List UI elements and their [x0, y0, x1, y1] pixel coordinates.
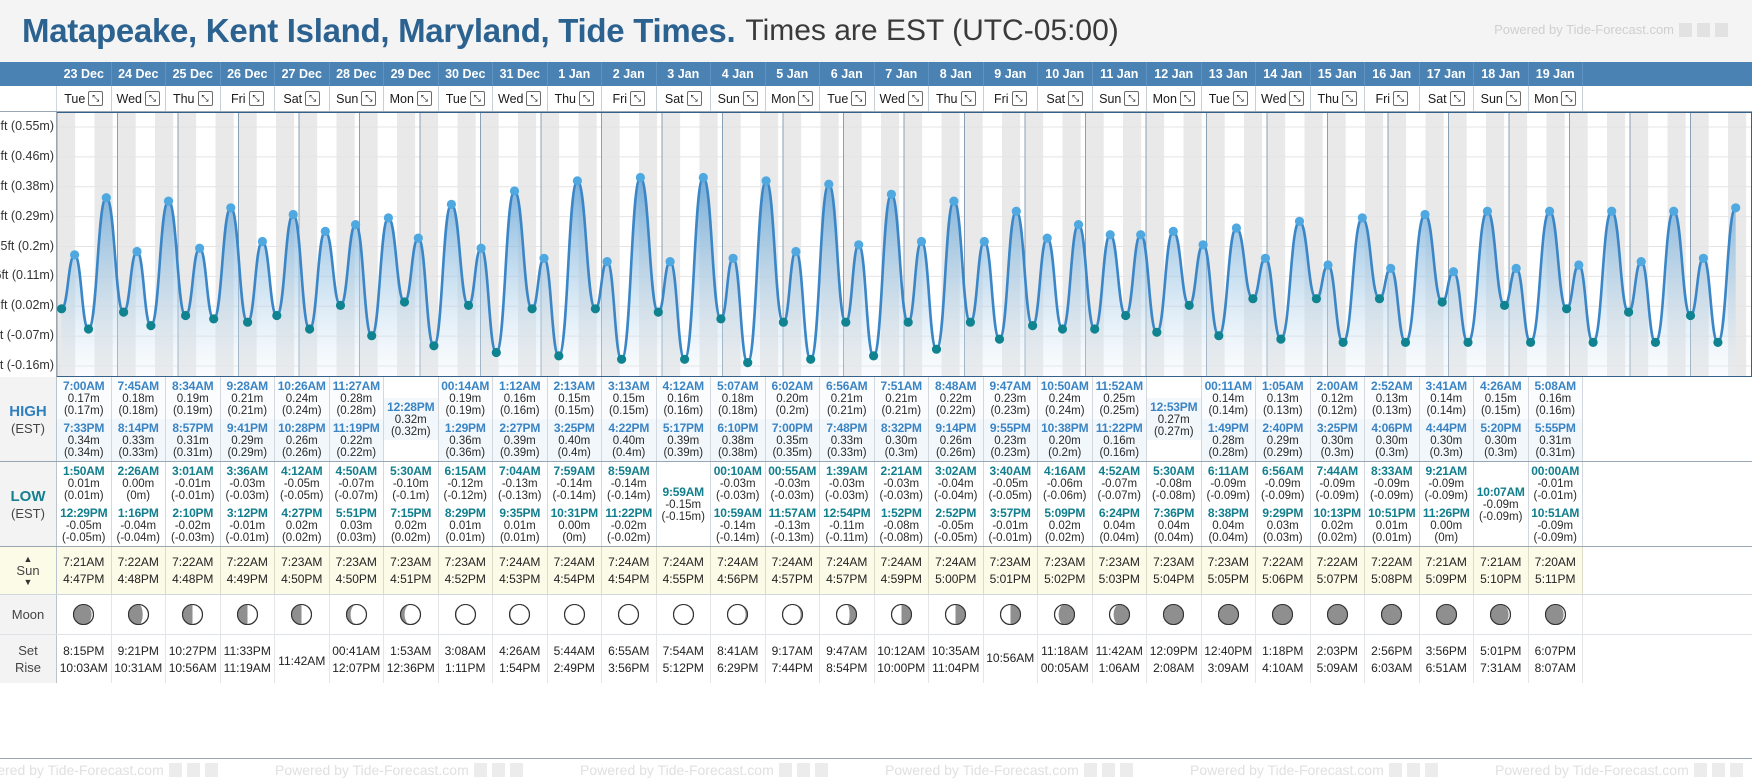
- weekday-header-cells: Tue⤡Wed⤡Thu⤡Fri⤡Sat⤡Sun⤡Mon⤡Tue⤡Wed⤡Thu⤡…: [57, 86, 1752, 111]
- tide-event[interactable]: 5:17PM0.39m(0.39m): [657, 419, 711, 461]
- tide-event[interactable]: 12:28PM0.32m(0.32m): [384, 398, 438, 440]
- weekday-header-cell[interactable]: Mon⤡: [1529, 86, 1584, 111]
- watermark-box-2: [1407, 763, 1420, 777]
- low-tide-point[interactable]: [1562, 304, 1571, 313]
- weekday-header-cell[interactable]: Wed⤡: [1256, 86, 1311, 111]
- weekday-header-cell[interactable]: Sun⤡: [330, 86, 385, 111]
- tide-event[interactable]: 7:48PM0.33m(0.33m): [820, 419, 874, 461]
- tide-event[interactable]: 3:13AM0.15m(0.15m): [602, 377, 656, 419]
- y-axis-tick-label: 0.36ft (0.11m): [0, 268, 54, 282]
- high-tide-point[interactable]: [1637, 257, 1646, 266]
- high-tide-point[interactable]: [384, 213, 393, 222]
- weekday-header-cell[interactable]: Wed⤡: [112, 86, 167, 111]
- tide-event[interactable]: 9:21AM-0.09m(-0.09m): [1420, 462, 1474, 504]
- low-tide-point[interactable]: [1375, 294, 1384, 303]
- tide-event[interactable]: 00:14AM0.19m(0.19m): [439, 377, 493, 419]
- tide-event[interactable]: 3:36AM-0.03m(-0.03m): [221, 462, 275, 504]
- tide-event[interactable]: 6:11AM-0.09m(-0.09m): [1202, 462, 1256, 504]
- tide-event-height: -0.09m: [1428, 478, 1464, 490]
- tide-event[interactable]: 9:55PM0.23m(0.23m): [984, 419, 1038, 461]
- tide-event[interactable]: 10:51PM0.01m(0.01m): [1365, 504, 1419, 546]
- high-tide-point[interactable]: [226, 203, 235, 212]
- tide-event[interactable]: 9:35PM0.01m(0.01m): [493, 504, 547, 546]
- low-tide-point[interactable]: [84, 324, 93, 333]
- weekday-header-cell[interactable]: Wed⤡: [875, 86, 930, 111]
- low-tide-point[interactable]: [654, 308, 663, 317]
- tide-event[interactable]: 10:07AM-0.09m(-0.09m): [1474, 483, 1528, 525]
- low-tide-point[interactable]: [1589, 338, 1598, 347]
- low-tide-point[interactable]: [1438, 297, 1447, 306]
- tide-event[interactable]: 4:16AM-0.06m(-0.06m): [1038, 462, 1092, 504]
- tide-event[interactable]: 5:08AM0.16m(0.16m): [1529, 377, 1583, 419]
- low-tide-point[interactable]: [1090, 324, 1099, 333]
- low-tide-point[interactable]: [1152, 328, 1161, 337]
- tide-event[interactable]: 12:53PM0.27m(0.27m): [1147, 398, 1201, 440]
- expand-icon[interactable]: ⤡: [470, 91, 485, 106]
- low-tide-point[interactable]: [119, 308, 128, 317]
- tide-event[interactable]: 2:52AM0.13m(0.13m): [1365, 377, 1419, 419]
- tide-event[interactable]: 8:38PM0.04m(0.04m): [1202, 504, 1256, 546]
- high-tide-point[interactable]: [1449, 267, 1458, 276]
- expand-icon[interactable]: ⤡: [1233, 91, 1248, 106]
- tide-event[interactable]: 7:45AM0.18m(0.18m): [112, 377, 166, 419]
- high-tide-point[interactable]: [1669, 207, 1678, 216]
- expand-icon[interactable]: ⤡: [1342, 91, 1357, 106]
- tide-event[interactable]: 12:54PM-0.11m(-0.11m): [820, 504, 874, 546]
- tide-event[interactable]: 8:48AM0.22m(0.22m): [929, 377, 983, 419]
- low-tide-point[interactable]: [146, 321, 155, 330]
- low-tide-point[interactable]: [554, 351, 563, 360]
- low-tide-point[interactable]: [1312, 294, 1321, 303]
- tide-event[interactable]: 9:14PM0.26m(0.26m): [929, 419, 983, 461]
- low-tide-point[interactable]: [1651, 338, 1660, 347]
- low-tide-point[interactable]: [617, 355, 626, 364]
- tide-event[interactable]: 1:39AM-0.03m(-0.03m): [820, 462, 874, 504]
- low-tide-point[interactable]: [209, 314, 218, 323]
- expand-icon[interactable]: ⤡: [687, 91, 702, 106]
- sunrise-time: 7:24AM: [881, 555, 922, 569]
- tide-event[interactable]: 5:55PM0.31m(0.31m): [1529, 419, 1583, 461]
- tide-event[interactable]: 4:44PM0.30m(0.3m): [1420, 419, 1474, 461]
- expand-icon[interactable]: ⤡: [908, 91, 923, 106]
- expand-icon[interactable]: ⤡: [1561, 91, 1576, 106]
- high-tide-point[interactable]: [321, 227, 330, 236]
- tide-event-height-alt: (0.21m): [227, 405, 267, 417]
- tide-event[interactable]: 3:01AM-0.01m(-0.01m): [166, 462, 220, 504]
- tide-event[interactable]: 2:26AM0.00m(0m): [112, 462, 166, 504]
- high-tide-point[interactable]: [1545, 207, 1554, 216]
- chart-plot-area[interactable]: [57, 112, 1752, 377]
- weekday-header-cell[interactable]: Thu⤡: [929, 86, 984, 111]
- expand-icon[interactable]: ⤡: [1450, 91, 1465, 106]
- high-tide-point[interactable]: [477, 244, 486, 253]
- high-tide-point[interactable]: [539, 254, 548, 263]
- watermark-box-2: [187, 763, 200, 777]
- tide-event[interactable]: 2:10PM-0.02m(-0.03m): [166, 504, 220, 546]
- tide-event[interactable]: 1:50AM0.01m(0.01m): [57, 462, 111, 504]
- tide-event[interactable]: 4:22PM0.40m(0.4m): [602, 419, 656, 461]
- high-tide-point[interactable]: [1699, 254, 1708, 263]
- weekday-header-cell[interactable]: Wed⤡: [493, 86, 548, 111]
- low-tide-point[interactable]: [779, 318, 788, 327]
- tide-event[interactable]: 1:16PM-0.04m(-0.04m): [112, 504, 166, 546]
- tide-event[interactable]: 10:50AM0.24m(0.24m): [1038, 377, 1092, 419]
- high-tide-point[interactable]: [1420, 210, 1429, 219]
- tide-event[interactable]: 7:00PM0.35m(0.35m): [766, 419, 820, 461]
- weekday-header-cell[interactable]: Thu⤡: [166, 86, 221, 111]
- low-tide-point[interactable]: [429, 341, 438, 350]
- tide-event[interactable]: 3:12PM-0.01m(-0.01m): [221, 504, 275, 546]
- tide-event[interactable]: 1:29PM0.36m(0.36m): [439, 419, 493, 461]
- high-tide-point[interactable]: [699, 173, 708, 182]
- tide-event[interactable]: 00:55AM-0.03m(-0.03m): [766, 462, 820, 504]
- tide-event[interactable]: 11:27AM0.28m(0.28m): [330, 377, 384, 419]
- tide-event[interactable]: 4:50AM-0.07m(-0.07m): [330, 462, 384, 504]
- high-tide-point[interactable]: [132, 247, 141, 256]
- tide-event[interactable]: 10:26AM0.24m(0.24m): [275, 377, 329, 419]
- expand-icon[interactable]: ⤡: [630, 91, 645, 106]
- high-tide-point[interactable]: [1074, 220, 1083, 229]
- tide-event[interactable]: 8:57PM0.31m(0.31m): [166, 419, 220, 461]
- expand-icon[interactable]: ⤡: [1393, 91, 1408, 106]
- low-tide-cell: 1:39AM-0.03m(-0.03m)12:54PM-0.11m(-0.11m…: [820, 462, 875, 546]
- sun-cell: 7:22AM4:48PM: [166, 547, 221, 594]
- low-tide-point[interactable]: [1121, 311, 1130, 320]
- tide-event[interactable]: 2:52PM-0.05m(-0.05m): [929, 504, 983, 546]
- high-tide-point[interactable]: [1012, 207, 1021, 216]
- weekday-header-cell[interactable]: Sat⤡: [275, 86, 330, 111]
- expand-icon[interactable]: ⤡: [1506, 91, 1521, 106]
- low-tide-point[interactable]: [367, 331, 376, 340]
- tide-event[interactable]: 6:56AM-0.09m(-0.09m): [1256, 462, 1310, 504]
- low-tide-point[interactable]: [1713, 338, 1722, 347]
- tide-event-height: 0.35m: [776, 435, 808, 447]
- tide-event[interactable]: 8:59AM-0.14m(-0.14m): [602, 462, 656, 504]
- expand-icon[interactable]: ⤡: [417, 91, 432, 106]
- weekday-header-cell[interactable]: Tue⤡: [57, 86, 112, 111]
- weekday-header-cell[interactable]: Sat⤡: [657, 86, 712, 111]
- high-tide-point[interactable]: [791, 247, 800, 256]
- expand-icon[interactable]: ⤡: [579, 91, 594, 106]
- expand-icon[interactable]: ⤡: [1012, 91, 1027, 106]
- moonset-time: 11:33PM: [224, 644, 271, 658]
- tide-event[interactable]: 8:14PM0.33m(0.33m): [112, 419, 166, 461]
- tide-event[interactable]: 10:31PM0.00m(0m): [548, 504, 602, 546]
- expand-icon[interactable]: ⤡: [249, 91, 264, 106]
- tide-event[interactable]: 11:22PM-0.02m(-0.02m): [602, 504, 656, 546]
- low-tide-point[interactable]: [272, 311, 281, 320]
- weekday-header-cell[interactable]: Thu⤡: [548, 86, 603, 111]
- tide-event[interactable]: 1:52PM-0.08m(-0.08m): [875, 504, 929, 546]
- tide-event[interactable]: 6:10PM0.38m(0.38m): [711, 419, 765, 461]
- low-tide-point[interactable]: [57, 304, 66, 313]
- high-tide-point[interactable]: [1232, 223, 1241, 232]
- high-tide-point[interactable]: [887, 190, 896, 199]
- low-tide-point[interactable]: [1058, 324, 1067, 333]
- tide-event-time: 5:07AM: [717, 379, 758, 393]
- expand-icon[interactable]: ⤡: [798, 91, 813, 106]
- expand-icon[interactable]: ⤡: [961, 91, 976, 106]
- weekday-header-cell[interactable]: Fri⤡: [221, 86, 276, 111]
- tide-event[interactable]: 11:52AM0.25m(0.25m): [1093, 377, 1147, 419]
- high-tide-point[interactable]: [1136, 230, 1145, 239]
- tide-event[interactable]: 3:25PM0.40m(0.4m): [548, 419, 602, 461]
- low-tide-point[interactable]: [181, 311, 190, 320]
- low-tide-point[interactable]: [1463, 338, 1472, 347]
- tide-event[interactable]: 2:00AM0.12m(0.12m): [1311, 377, 1365, 419]
- low-tide-point[interactable]: [716, 314, 725, 323]
- weekday-header-cell[interactable]: Tue⤡: [820, 86, 875, 111]
- high-tide-point[interactable]: [1323, 260, 1332, 269]
- high-tide-point[interactable]: [666, 257, 675, 266]
- weekday-header-cell[interactable]: Fri⤡: [984, 86, 1039, 111]
- tide-event[interactable]: 4:52AM-0.07m(-0.07m): [1093, 462, 1147, 504]
- tide-event[interactable]: 2:21AM-0.03m(-0.03m): [875, 462, 929, 504]
- high-tide-point[interactable]: [824, 180, 833, 189]
- high-tide-point[interactable]: [980, 237, 989, 246]
- low-tide-point[interactable]: [995, 335, 1004, 344]
- tide-event[interactable]: 10:38PM0.20m(0.2m): [1038, 419, 1092, 461]
- tide-event-time: 5:08AM: [1535, 379, 1576, 393]
- tide-event[interactable]: 10:51AM-0.09m(-0.09m): [1529, 504, 1583, 546]
- tide-event[interactable]: 9:29PM0.03m(0.03m): [1256, 504, 1310, 546]
- low-tide-point[interactable]: [336, 301, 345, 310]
- low-tide-point[interactable]: [932, 345, 941, 354]
- high-tide-point[interactable]: [636, 173, 645, 182]
- high-tide-point[interactable]: [351, 220, 360, 229]
- high-tide-point[interactable]: [1106, 230, 1115, 239]
- high-tide-point[interactable]: [854, 240, 863, 249]
- expand-icon[interactable]: ⤡: [145, 91, 160, 106]
- low-tide-point[interactable]: [1624, 308, 1633, 317]
- tide-event[interactable]: 4:27PM0.02m(0.02m): [275, 504, 329, 546]
- tide-event[interactable]: 1:05AM0.13m(0.13m): [1256, 377, 1310, 419]
- high-tide-point[interactable]: [1386, 264, 1395, 273]
- y-axis-tick-label: 0.65ft (0.2m): [0, 239, 54, 253]
- high-tide-point[interactable]: [510, 186, 519, 195]
- weekday-header-cell[interactable]: Sun⤡: [1474, 86, 1529, 111]
- low-tide-point[interactable]: [743, 358, 752, 367]
- weekday-header-cell[interactable]: Sun⤡: [711, 86, 766, 111]
- tide-event[interactable]: 7:04AM-0.13m(-0.13m): [493, 462, 547, 504]
- low-tide-point[interactable]: [400, 297, 409, 306]
- expand-icon[interactable]: ⤡: [1124, 91, 1139, 106]
- weekday-header-cell[interactable]: Sat⤡: [1038, 86, 1093, 111]
- weekday-header-cell[interactable]: Thu⤡: [1311, 86, 1366, 111]
- high-tide-point[interactable]: [1043, 234, 1052, 243]
- expand-icon[interactable]: ⤡: [851, 91, 866, 106]
- tide-event[interactable]: 7:00AM0.17m(0.17m): [57, 377, 111, 419]
- weekday-header-cell[interactable]: Fri⤡: [1365, 86, 1420, 111]
- tide-event-height: 0.30m: [885, 435, 917, 447]
- high-tide-point[interactable]: [1358, 213, 1367, 222]
- high-tide-point[interactable]: [1512, 264, 1521, 273]
- tide-event[interactable]: 11:57AM-0.13m(-0.13m): [766, 504, 820, 546]
- tide-event[interactable]: 9:59AM-0.15m(-0.15m): [657, 483, 711, 525]
- low-tide-point[interactable]: [680, 355, 689, 364]
- low-tide-point[interactable]: [1686, 311, 1695, 320]
- weekday-header-cell[interactable]: Sun⤡: [1093, 86, 1148, 111]
- high-tide-point[interactable]: [1199, 240, 1208, 249]
- tide-event[interactable]: 12:29PM-0.05m(-0.05m): [57, 504, 111, 546]
- high-tide-point[interactable]: [1483, 207, 1492, 216]
- tide-event[interactable]: 9:47AM0.23m(0.23m): [984, 377, 1038, 419]
- weekday-header-cell[interactable]: Mon⤡: [1147, 86, 1202, 111]
- tide-event[interactable]: 11:26PM0.00m(0m): [1420, 504, 1474, 546]
- tide-event[interactable]: 6:02AM0.20m(0.2m): [766, 377, 820, 419]
- tide-event[interactable]: 8:29PM0.01m(0.01m): [439, 504, 493, 546]
- high-tide-point[interactable]: [1731, 203, 1740, 212]
- tide-event[interactable]: 4:12AM-0.05m(-0.05m): [275, 462, 329, 504]
- expand-icon[interactable]: ⤡: [361, 91, 376, 106]
- tide-event[interactable]: 6:24PM0.04m(0.04m): [1093, 504, 1147, 546]
- high-tide-point[interactable]: [1607, 207, 1616, 216]
- expand-icon[interactable]: ⤡: [88, 91, 103, 106]
- tide-event[interactable]: 00:10AM-0.03m(-0.03m): [711, 462, 765, 504]
- tide-event-time: 00:11AM: [1205, 379, 1252, 393]
- moon-phase-icon: [454, 603, 477, 626]
- low-tide-point[interactable]: [904, 318, 913, 327]
- moon-setrise-cell: 3:56PM6:51AM: [1420, 635, 1475, 683]
- tide-event[interactable]: 7:51AM0.21m(0.21m): [875, 377, 929, 419]
- low-tide-point[interactable]: [528, 304, 537, 313]
- low-tide-point[interactable]: [1028, 321, 1037, 330]
- tide-event[interactable]: 8:32PM0.30m(0.3m): [875, 419, 929, 461]
- tide-event[interactable]: 3:02AM-0.04m(-0.04m): [929, 462, 983, 504]
- high-tide-point[interactable]: [729, 254, 738, 263]
- high-tide-point[interactable]: [164, 197, 173, 206]
- high-tide-point[interactable]: [447, 200, 456, 209]
- tide-event[interactable]: 3:41AM0.14m(0.14m): [1420, 377, 1474, 419]
- weekday-header-cell[interactable]: Tue⤡: [1202, 86, 1257, 111]
- low-tide-point[interactable]: [1401, 338, 1410, 347]
- tide-event-height-alt: (0.02m): [1317, 532, 1357, 544]
- weekday-label: Sun: [1099, 92, 1121, 106]
- low-tide-cell: 2:21AM-0.03m(-0.03m)1:52PM-0.08m(-0.08m): [875, 462, 930, 546]
- low-tide-point[interactable]: [464, 301, 473, 310]
- tide-event[interactable]: 8:33AM-0.09m(-0.09m): [1365, 462, 1419, 504]
- tide-event[interactable]: 9:41PM0.29m(0.29m): [221, 419, 275, 461]
- weekday-header-cell[interactable]: Mon⤡: [766, 86, 821, 111]
- tide-event[interactable]: 3:25PM0.30m(0.3m): [1311, 419, 1365, 461]
- tide-event[interactable]: 00:11AM0.14m(0.14m): [1202, 377, 1256, 419]
- tide-event[interactable]: 1:12AM0.16m(0.16m): [493, 377, 547, 419]
- low-tide-point[interactable]: [591, 304, 600, 313]
- high-tide-point[interactable]: [414, 234, 423, 243]
- tide-event[interactable]: 10:28PM0.26m(0.26m): [275, 419, 329, 461]
- tide-event[interactable]: 5:51PM0.03m(0.03m): [330, 504, 384, 546]
- expand-icon[interactable]: ⤡: [1289, 91, 1304, 106]
- high-tide-point[interactable]: [1261, 254, 1270, 263]
- high-tide-point[interactable]: [70, 250, 79, 259]
- tide-event[interactable]: 7:59AM-0.14m(-0.14m): [548, 462, 602, 504]
- expand-icon[interactable]: ⤡: [198, 91, 213, 106]
- tide-event[interactable]: 4:26AM0.15m(0.15m): [1474, 377, 1528, 419]
- tide-event-height-alt: (-0.07m): [335, 490, 378, 502]
- high-tide-point[interactable]: [949, 197, 958, 206]
- tide-event[interactable]: 8:34AM0.19m(0.19m): [166, 377, 220, 419]
- low-tide-point[interactable]: [305, 324, 314, 333]
- low-tide-point[interactable]: [966, 318, 975, 327]
- low-tide-point[interactable]: [1276, 335, 1285, 344]
- expand-icon[interactable]: ⤡: [743, 91, 758, 106]
- tide-event[interactable]: 4:06PM0.30m(0.3m): [1365, 419, 1419, 461]
- tide-event[interactable]: 6:15AM-0.12m(-0.12m): [439, 462, 493, 504]
- high-tide-point[interactable]: [1169, 227, 1178, 236]
- tide-event[interactable]: 5:30AM-0.10m(-0.1m): [384, 462, 438, 504]
- tide-event[interactable]: 5:20PM0.30m(0.3m): [1474, 419, 1528, 461]
- high-tide-point[interactable]: [102, 193, 111, 202]
- low-tide-point[interactable]: [841, 318, 850, 327]
- weekday-header-cell[interactable]: Sat⤡: [1420, 86, 1475, 111]
- high-tide-point[interactable]: [195, 244, 204, 253]
- high-tide-point[interactable]: [762, 176, 771, 185]
- high-tide-point[interactable]: [1574, 260, 1583, 269]
- tide-event[interactable]: 3:57PM-0.01m(-0.01m): [984, 504, 1038, 546]
- low-tide-point[interactable]: [243, 318, 252, 327]
- high-tide-point[interactable]: [1295, 217, 1304, 226]
- expand-icon[interactable]: ⤡: [526, 91, 541, 106]
- tide-event[interactable]: 9:28AM0.21m(0.21m): [221, 377, 275, 419]
- weekday-header-cell[interactable]: Fri⤡: [602, 86, 657, 111]
- low-tide-point[interactable]: [1339, 338, 1348, 347]
- expand-icon[interactable]: ⤡: [1180, 91, 1195, 106]
- sun-cell: 7:24AM4:57PM: [766, 547, 821, 594]
- low-tide-point[interactable]: [1214, 331, 1223, 340]
- tide-event[interactable]: 7:36PM0.04m(0.04m): [1147, 504, 1201, 546]
- high-tide-point[interactable]: [258, 237, 267, 246]
- tide-event[interactable]: 11:22PM0.16m(0.16m): [1093, 419, 1147, 461]
- low-tide-point[interactable]: [869, 351, 878, 360]
- powered-by-label: Powered by Tide-Forecast.com: [580, 762, 774, 778]
- low-tide-point[interactable]: [1185, 301, 1194, 310]
- tide-event[interactable]: 4:12AM0.16m(0.16m): [657, 377, 711, 419]
- tide-event-height-alt: (0.02m): [391, 532, 431, 544]
- tide-event[interactable]: 2:40PM0.29m(0.29m): [1256, 419, 1310, 461]
- tide-event[interactable]: 7:44AM-0.09m(-0.09m): [1311, 462, 1365, 504]
- tide-event[interactable]: 1:49PM0.28m(0.28m): [1202, 419, 1256, 461]
- tide-event[interactable]: 7:15PM0.02m(0.02m): [384, 504, 438, 546]
- tide-event[interactable]: 5:30AM-0.08m(-0.08m): [1147, 462, 1201, 504]
- tide-event[interactable]: 6:56AM0.21m(0.21m): [820, 377, 874, 419]
- tide-event[interactable]: 2:13AM0.15m(0.15m): [548, 377, 602, 419]
- expand-icon[interactable]: ⤡: [305, 91, 320, 106]
- tide-event[interactable]: 5:07AM0.18m(0.18m): [711, 377, 765, 419]
- powered-by-label: Powered by Tide-Forecast.com: [0, 762, 164, 778]
- low-tide-point[interactable]: [1526, 338, 1535, 347]
- low-tide-point[interactable]: [1500, 301, 1509, 310]
- tide-event[interactable]: 10:59AM-0.14m(-0.14m): [711, 504, 765, 546]
- high-tide-point[interactable]: [289, 210, 298, 219]
- high-tide-point[interactable]: [917, 237, 926, 246]
- weekday-header-cell[interactable]: Tue⤡: [439, 86, 494, 111]
- moonrise-time: 7:31AM: [1480, 661, 1521, 675]
- low-tide-point[interactable]: [806, 355, 815, 364]
- low-tide-point[interactable]: [492, 348, 501, 357]
- high-tide-point[interactable]: [573, 176, 582, 185]
- low-tide-point[interactable]: [1248, 294, 1257, 303]
- tide-event[interactable]: 10:13PM0.02m(0.02m): [1311, 504, 1365, 546]
- expand-icon[interactable]: ⤡: [1068, 91, 1083, 106]
- tide-event[interactable]: 7:33PM0.34m(0.34m): [57, 419, 111, 461]
- tide-event[interactable]: 11:19PM0.22m(0.22m): [330, 419, 384, 461]
- tide-event[interactable]: 5:09PM0.02m(0.02m): [1038, 504, 1092, 546]
- tide-event[interactable]: 3:40AM-0.05m(-0.05m): [984, 462, 1038, 504]
- tide-event[interactable]: 2:27PM0.39m(0.39m): [493, 419, 547, 461]
- high-tide-point[interactable]: [603, 257, 612, 266]
- weekday-header-cell[interactable]: Mon⤡: [384, 86, 439, 111]
- tide-event[interactable]: 00:00AM-0.01m(-0.01m): [1529, 462, 1583, 504]
